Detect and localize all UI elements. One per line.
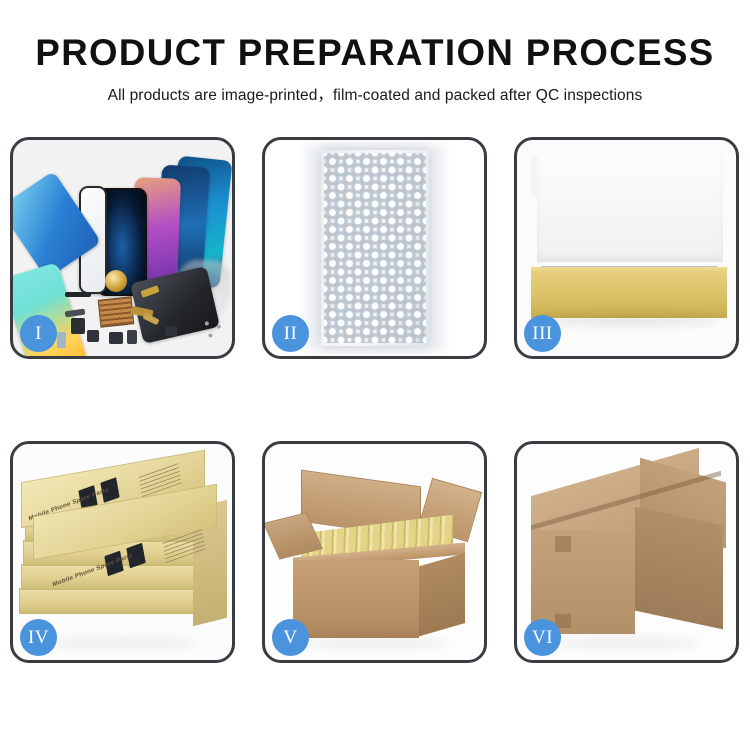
spare-part <box>57 332 66 348</box>
step-badge-3: III <box>524 315 561 352</box>
chip-array <box>98 296 135 327</box>
step-badge-1: I <box>20 315 57 352</box>
spare-part <box>165 326 177 336</box>
step-panel-1[interactable]: I <box>10 137 235 359</box>
bubble-pattern <box>324 153 426 343</box>
bubble-wrap-sheet <box>321 150 429 346</box>
drop-shadow <box>552 638 701 648</box>
step-panel-6[interactable]: VI <box>514 441 739 663</box>
step-badge-6: VI <box>524 619 561 656</box>
step-panel-2[interactable]: II <box>262 137 487 359</box>
carton-tape-mark <box>555 536 571 552</box>
carton-front-face <box>531 530 635 634</box>
step-panel-5[interactable]: V <box>262 441 487 663</box>
page-subtitle: All products are image-printed，film-coat… <box>0 83 750 105</box>
step-badge-2: II <box>272 315 309 352</box>
stacked-box <box>19 588 195 614</box>
spare-part <box>87 330 99 342</box>
drop-shadow <box>539 316 719 326</box>
kraft-box-body <box>531 272 727 318</box>
charging-coil-icon <box>105 270 127 292</box>
carton-front-face <box>293 560 419 638</box>
drop-shadow <box>300 638 449 648</box>
box-lid-panel <box>537 154 723 262</box>
drop-shadow <box>48 638 197 648</box>
header: PRODUCT PREPARATION PROCESS All products… <box>0 0 750 105</box>
step-panel-3[interactable]: III <box>514 137 739 359</box>
page-title: PRODUCT PREPARATION PROCESS <box>4 30 747 76</box>
carton-side-face <box>417 553 465 637</box>
box-stack: Mobile Phone Spare Parts Mobile Phone Sp… <box>19 460 229 650</box>
spare-part <box>71 318 85 334</box>
step-badge-4: IV <box>20 619 57 656</box>
process-steps-grid: I II III <box>10 137 740 663</box>
carton-side-face <box>635 507 723 630</box>
step-panel-4[interactable]: Mobile Phone Spare Parts Mobile Phone Sp… <box>10 441 235 663</box>
screws-icon <box>202 318 226 340</box>
spare-part <box>65 309 86 318</box>
product-preparation-infographic: PRODUCT PREPARATION PROCESS All products… <box>0 0 750 750</box>
step-badge-5: V <box>272 619 309 656</box>
spare-part <box>109 332 123 344</box>
spare-part <box>127 330 137 344</box>
spare-part <box>65 292 91 297</box>
